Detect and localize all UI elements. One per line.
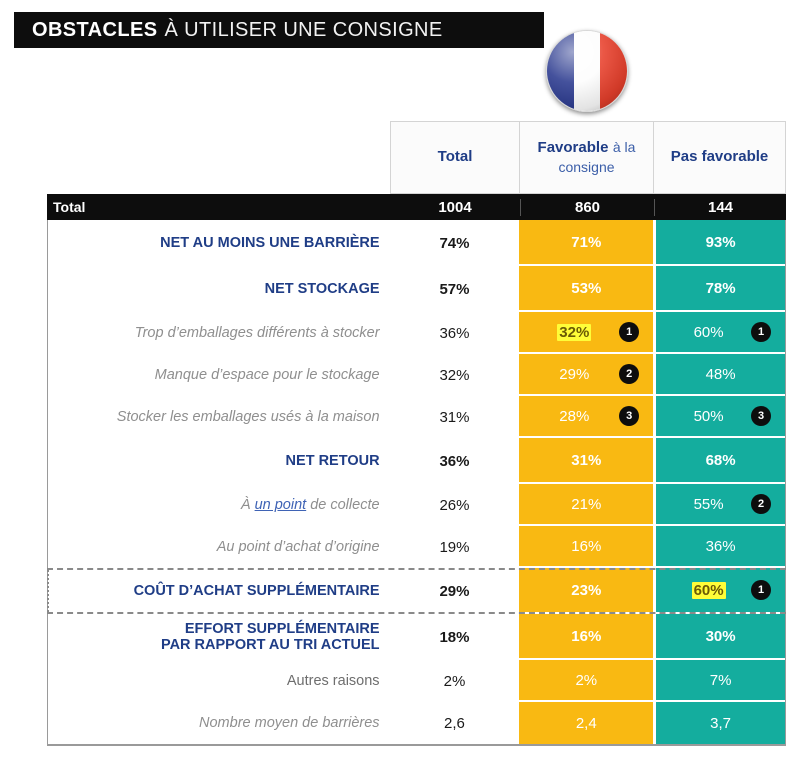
cell-total: 18% <box>390 614 520 660</box>
row-label: NET STOCKAGE <box>48 266 390 312</box>
cell-favorable: 28%3 <box>519 396 653 438</box>
cell-favorable-value: 31% <box>571 452 601 469</box>
cell-favorable: 32%1 <box>519 312 653 354</box>
cell-total: 36% <box>390 312 520 354</box>
cell-pas-favorable-value: 48% <box>706 366 736 383</box>
row-label: Manque d’espace pour le stockage <box>48 354 390 396</box>
base-size-row: Total 1004 860 144 <box>47 194 786 220</box>
page-title-bar: OBSTACLES À UTILISER UNE CONSIGNE <box>14 12 544 48</box>
cell-favorable-value: 32% <box>557 324 591 341</box>
cell-favorable: 16% <box>519 526 653 568</box>
cell-pas-favorable-highlight: 60% <box>692 582 726 599</box>
base-size-label: Total <box>47 199 390 215</box>
row-label: À un point de collecte <box>48 484 390 526</box>
table-row: NET STOCKAGE57%53%78% <box>48 266 785 312</box>
flag-stripe-blue <box>547 31 574 111</box>
cell-total: 74% <box>390 220 520 266</box>
column-header-favorable-strong: Favorable <box>538 139 609 156</box>
table-row: NET AU MOINS UNE BARRIÈRE74%71%93% <box>48 220 785 266</box>
row-label: Stocker les emballages usés à la maison <box>48 396 390 438</box>
page-title-strong: OBSTACLES <box>32 19 157 42</box>
cell-total: 26% <box>390 484 520 526</box>
cell-total-value: 18% <box>439 629 469 646</box>
cell-total: 32% <box>390 354 520 396</box>
france-flag-icon <box>546 30 628 112</box>
flag-stripe-white <box>574 31 601 111</box>
row-label-text: Trop d’emballages différents à stocker <box>135 325 380 341</box>
base-size-favorable: 860 <box>520 199 654 216</box>
cell-pas-favorable-rank-badge: 1 <box>751 580 771 600</box>
cell-favorable-value: 16% <box>571 628 601 645</box>
table-row: EFFORT SUPPLÉMENTAIREPAR RAPPORT AU TRI … <box>48 614 785 660</box>
cell-favorable-value: 16% <box>571 538 601 555</box>
cell-pas-favorable-value: 78% <box>706 280 736 297</box>
cell-pas-favorable: 7% <box>653 660 785 702</box>
cell-favorable-value: 53% <box>571 280 601 297</box>
cell-pas-favorable: 93% <box>653 220 785 266</box>
cell-total: 29% <box>390 568 520 614</box>
cell-total-value: 57% <box>439 281 469 298</box>
cell-pas-favorable: 48% <box>653 354 785 396</box>
page-title-light: À UTILISER UNE CONSIGNE <box>164 19 442 42</box>
table-row: Trop d’emballages différents à stocker36… <box>48 312 785 354</box>
cell-total: 31% <box>390 396 520 438</box>
column-header-pas-favorable-label: Pas favorable <box>671 148 769 166</box>
cell-pas-favorable-value: 36% <box>706 538 736 555</box>
cell-total-value: 36% <box>439 325 469 342</box>
table-body: NET AU MOINS UNE BARRIÈRE74%71%93%NET ST… <box>47 220 786 746</box>
row-label-text: NET RETOUR <box>286 453 380 469</box>
cell-favorable: 29%2 <box>519 354 653 396</box>
row-label-text: Au point d’achat d’origine <box>217 539 380 555</box>
table-row: Autres raisons2%2%7% <box>48 660 785 702</box>
cell-favorable-value: 2% <box>575 672 597 689</box>
row-label-text: NET AU MOINS UNE BARRIÈRE <box>160 235 379 251</box>
cell-favorable-rank-badge: 3 <box>619 406 639 426</box>
base-size-pas-favorable: 144 <box>654 199 786 216</box>
cell-favorable: 21% <box>519 484 653 526</box>
column-header-pas-favorable: Pas favorable <box>654 121 786 194</box>
cell-pas-favorable-rank-badge: 3 <box>751 406 771 426</box>
cell-total: 19% <box>390 526 520 568</box>
row-label-text: COÛT D’ACHAT SUPPLÉMENTAIRE <box>134 583 380 599</box>
flag-stripe-red <box>600 31 627 111</box>
flag-stripes <box>547 31 627 111</box>
base-size-total: 1004 <box>390 199 520 216</box>
cell-total: 57% <box>390 266 520 312</box>
row-label: EFFORT SUPPLÉMENTAIREPAR RAPPORT AU TRI … <box>48 614 390 660</box>
cell-pas-favorable-rank-badge: 2 <box>751 494 771 514</box>
table-row: NET RETOUR36%31%68% <box>48 438 785 484</box>
cell-total: 2,6 <box>390 702 520 744</box>
row-label: Autres raisons <box>48 660 390 702</box>
row-label-text: À un point de collecte <box>241 497 380 513</box>
cell-favorable-rank-badge: 1 <box>619 322 639 342</box>
row-label-text: Stocker les emballages usés à la maison <box>117 409 380 425</box>
cell-favorable-value: 23% <box>571 582 601 599</box>
cell-favorable: 2% <box>519 660 653 702</box>
cell-pas-favorable: 36% <box>653 526 785 568</box>
cell-favorable: 71% <box>519 220 653 266</box>
table-row: À un point de collecte26%21%55%2 <box>48 484 785 526</box>
cell-favorable: 53% <box>519 266 653 312</box>
row-label-text: Nombre moyen de barrières <box>199 715 380 731</box>
cell-favorable-value: 29% <box>559 366 589 383</box>
cell-favorable-value: 21% <box>571 496 601 513</box>
cell-pas-favorable: 78% <box>653 266 785 312</box>
cell-pas-favorable: 50%3 <box>653 396 785 438</box>
table-row: Stocker les emballages usés à la maison3… <box>48 396 785 438</box>
cell-pas-favorable: 55%2 <box>653 484 785 526</box>
cell-favorable-rank-badge: 2 <box>619 364 639 384</box>
row-label-text: EFFORT SUPPLÉMENTAIREPAR RAPPORT AU TRI … <box>161 621 380 653</box>
column-headers: Total Favorable à la consigne Pas favora… <box>390 121 786 194</box>
column-header-favorable: Favorable à la consigne <box>520 121 654 194</box>
cell-pas-favorable-value: 55% <box>694 496 724 513</box>
table-row: Au point d’achat d’origine19%16%36% <box>48 526 785 568</box>
table-row: Manque d’espace pour le stockage32%29%24… <box>48 354 785 396</box>
obstacles-table: Total 1004 860 144 NET AU MOINS UNE BARR… <box>47 194 786 746</box>
row-label: COÛT D’ACHAT SUPPLÉMENTAIRE <box>48 568 390 614</box>
cell-favorable: 16% <box>519 614 653 660</box>
cell-total-value: 29% <box>439 583 469 600</box>
cell-pas-favorable: 3,7 <box>653 702 785 744</box>
cell-pas-favorable: 30% <box>653 614 785 660</box>
cell-favorable: 31% <box>519 438 653 484</box>
row-label-text: NET STOCKAGE <box>265 281 380 297</box>
cell-pas-favorable-value: 68% <box>706 452 736 469</box>
cell-pas-favorable-value: 3,7 <box>710 715 731 732</box>
table-row: COÛT D’ACHAT SUPPLÉMENTAIRE29%23%60%1 <box>48 568 785 614</box>
cell-total-value: 32% <box>439 367 469 384</box>
cell-total: 36% <box>390 438 520 484</box>
cell-pas-favorable: 60%1 <box>653 568 785 614</box>
cell-pas-favorable-value: 93% <box>706 234 736 251</box>
cell-pas-favorable: 68% <box>653 438 785 484</box>
row-label: Au point d’achat d’origine <box>48 526 390 568</box>
cell-favorable-highlight: 32% <box>557 324 591 341</box>
cell-total: 2% <box>390 660 520 702</box>
cell-total-value: 2% <box>444 673 466 690</box>
cell-pas-favorable-value: 7% <box>710 672 732 689</box>
row-label: NET AU MOINS UNE BARRIÈRE <box>48 220 390 266</box>
cell-total-value: 31% <box>439 409 469 426</box>
cell-pas-favorable-value: 60% <box>694 324 724 341</box>
cell-favorable: 23% <box>519 568 653 614</box>
cell-total-value: 36% <box>439 453 469 470</box>
row-label-text: Autres raisons <box>287 673 380 689</box>
cell-pas-favorable-value: 30% <box>706 628 736 645</box>
cell-pas-favorable: 60%1 <box>653 312 785 354</box>
row-label-text: Manque d’espace pour le stockage <box>155 367 380 383</box>
cell-favorable-value: 71% <box>571 234 601 251</box>
row-label: Nombre moyen de barrières <box>48 702 390 744</box>
cell-favorable: 2,4 <box>519 702 653 744</box>
cell-pas-favorable-value: 60% <box>692 582 726 599</box>
column-header-total-label: Total <box>438 148 473 166</box>
cell-favorable-value: 28% <box>559 408 589 425</box>
cell-pas-favorable-value: 50% <box>694 408 724 425</box>
row-label: NET RETOUR <box>48 438 390 484</box>
cell-favorable-value: 2,4 <box>576 715 597 732</box>
cell-total-value: 19% <box>439 539 469 556</box>
row-label: Trop d’emballages différents à stocker <box>48 312 390 354</box>
column-header-total: Total <box>390 121 520 194</box>
cell-total-value: 74% <box>439 235 469 252</box>
cell-total-value: 26% <box>439 497 469 514</box>
table-row: Nombre moyen de barrières2,62,43,7 <box>48 702 785 744</box>
cell-pas-favorable-rank-badge: 1 <box>751 322 771 342</box>
cell-total-value: 2,6 <box>444 715 465 732</box>
